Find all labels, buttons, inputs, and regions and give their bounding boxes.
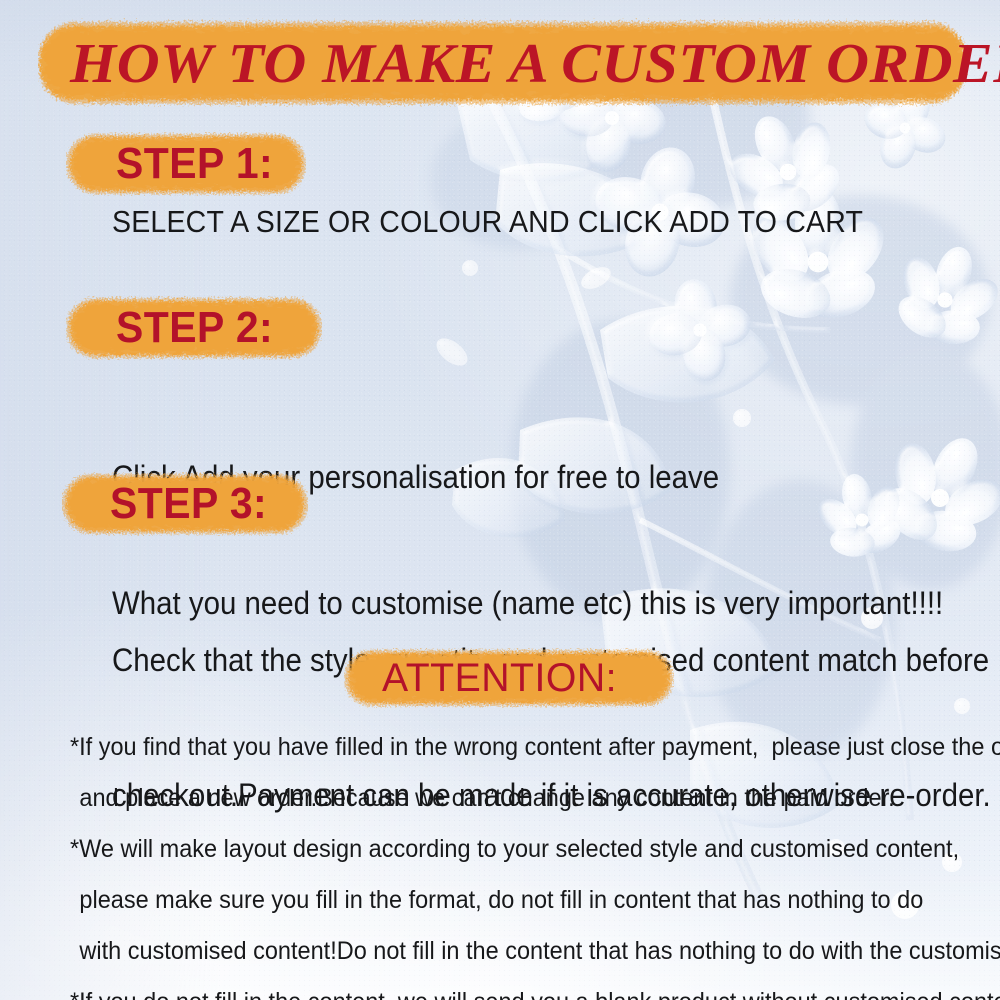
step-3-highlight-banner: STEP 3: — [62, 472, 308, 536]
fine-print-line-6: *If you do not fill in the content, we w… — [70, 977, 935, 1000]
step-2-label: STEP 2: — [116, 306, 273, 350]
fine-print-line-4: please make sure you fill in the format,… — [70, 875, 935, 926]
page-title: HOW TO MAKE A CUSTOM ORDER — [70, 36, 1000, 92]
attention-highlight-banner: ATTENTION: — [344, 648, 674, 708]
attention-label: ATTENTION: — [382, 658, 617, 698]
attention-fine-print: *If you find that you have filled in the… — [70, 722, 990, 1000]
fine-print-line-2: and place a new order.Because we can’t c… — [70, 773, 935, 824]
step-1-description: SELECT A SIZE OR COLOUR AND CLICK ADD TO… — [112, 206, 863, 237]
title-highlight-banner: HOW TO MAKE A CUSTOM ORDER — [38, 18, 968, 110]
fine-print-line-1: *If you find that you have filled in the… — [70, 722, 935, 773]
step-1-label: STEP 1: — [116, 142, 273, 186]
step-3-label: STEP 3: — [110, 482, 267, 526]
custom-order-instructions-poster: HOW TO MAKE A CUSTOM ORDER STEP 1: SELEC… — [0, 0, 1000, 1000]
step-1-highlight-banner: STEP 1: — [66, 132, 306, 196]
fine-print-line-5: with customised content!Do not fill in t… — [70, 926, 935, 977]
fine-print-line-3: *We will make layout design according to… — [70, 824, 935, 875]
step-2-highlight-banner: STEP 2: — [66, 296, 322, 360]
